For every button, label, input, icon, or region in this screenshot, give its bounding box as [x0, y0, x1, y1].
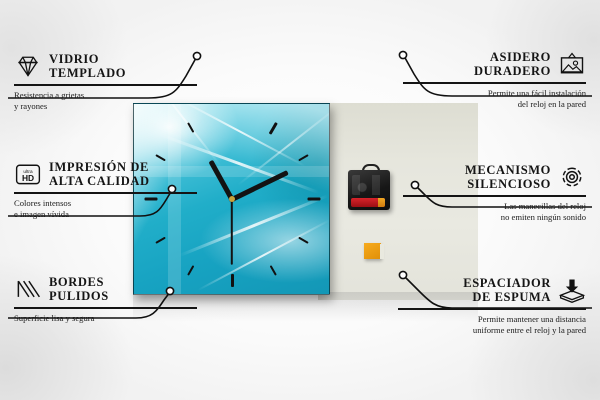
- battery: [351, 198, 385, 207]
- feature-desc-2: y rayones: [14, 101, 197, 112]
- feature-title-2: ALTA CALIDAD: [49, 174, 150, 188]
- mechanism-body: [348, 170, 390, 210]
- feature-title-2: SILENCIOSO: [465, 177, 551, 191]
- feature-title: IMPRESIÓN DE: [49, 160, 150, 174]
- feature-divider: [14, 84, 197, 86]
- diagonal-lines-icon: [14, 276, 42, 302]
- feature-divider: [14, 192, 197, 194]
- feature-divider: [14, 307, 197, 309]
- clock-mechanism: [348, 170, 390, 210]
- feature-desc-2: uniforme entre el reloj y la pared: [398, 325, 586, 336]
- clock-center-hub: [229, 196, 235, 202]
- feature-divider: [398, 308, 586, 310]
- feature-desc: Permite una fácil instalación: [403, 88, 586, 99]
- feature-title: MECANISMO: [465, 163, 551, 177]
- second-hand: [231, 199, 233, 265]
- svg-text:HD: HD: [22, 173, 34, 183]
- feature-impresion-alta-calidad: ultra HD IMPRESIÓN DE ALTA CALIDAD Color…: [14, 160, 197, 220]
- feature-vidrio-templado: VIDRIO TEMPLADO Resistencia a grietas y …: [14, 52, 197, 112]
- arrow-onto-foam-icon: [558, 277, 586, 303]
- feature-desc-2: no emiten ningún sonido: [403, 212, 586, 223]
- feature-desc: Colores intensos: [14, 198, 197, 209]
- feature-title-2: DURADERO: [474, 64, 551, 78]
- hanging-frame-icon: [558, 51, 586, 77]
- diamond-icon: [14, 53, 42, 79]
- feature-divider: [403, 195, 586, 197]
- feature-desc-2: e imagen vívida: [14, 209, 197, 220]
- feature-desc: Permite mantener una distancia: [398, 314, 586, 325]
- feature-title: ESPACIADOR: [463, 276, 551, 290]
- ultra-hd-icon: ultra HD: [14, 161, 42, 187]
- feature-title: BORDES: [49, 275, 109, 289]
- feature-espaciador-de-espuma: ESPACIADOR DE ESPUMA Permite mantener un…: [398, 276, 586, 336]
- feature-title-2: TEMPLADO: [49, 66, 126, 80]
- foam-spacer: [364, 243, 381, 259]
- feature-mecanismo-silencioso: MECANISMO SILENCIOSO Las manecillas del …: [403, 163, 586, 223]
- infographic-canvas: VIDRIO TEMPLADO Resistencia a grietas y …: [0, 0, 600, 400]
- feature-bordes-pulidos: BORDES PULIDOS Superficie lisa y segura: [14, 275, 197, 324]
- feature-title-2: DE ESPUMA: [463, 290, 551, 304]
- feature-asidero-duradero: ASIDERO DURADERO Permite una fácil insta…: [403, 50, 586, 110]
- mechanism-detail: [352, 175, 386, 195]
- feature-divider: [403, 82, 586, 84]
- feature-title-2: PULIDOS: [49, 289, 109, 303]
- feature-desc: Resistencia a grietas: [14, 90, 197, 101]
- feature-title: ASIDERO: [474, 50, 551, 64]
- feature-title: VIDRIO: [49, 52, 126, 66]
- feature-desc: Las manecillas del reloj: [403, 201, 586, 212]
- feature-desc-2: del reloj en la pared: [403, 99, 586, 110]
- feature-desc: Superficie lisa y segura: [14, 313, 197, 324]
- gear-icon: [558, 164, 586, 190]
